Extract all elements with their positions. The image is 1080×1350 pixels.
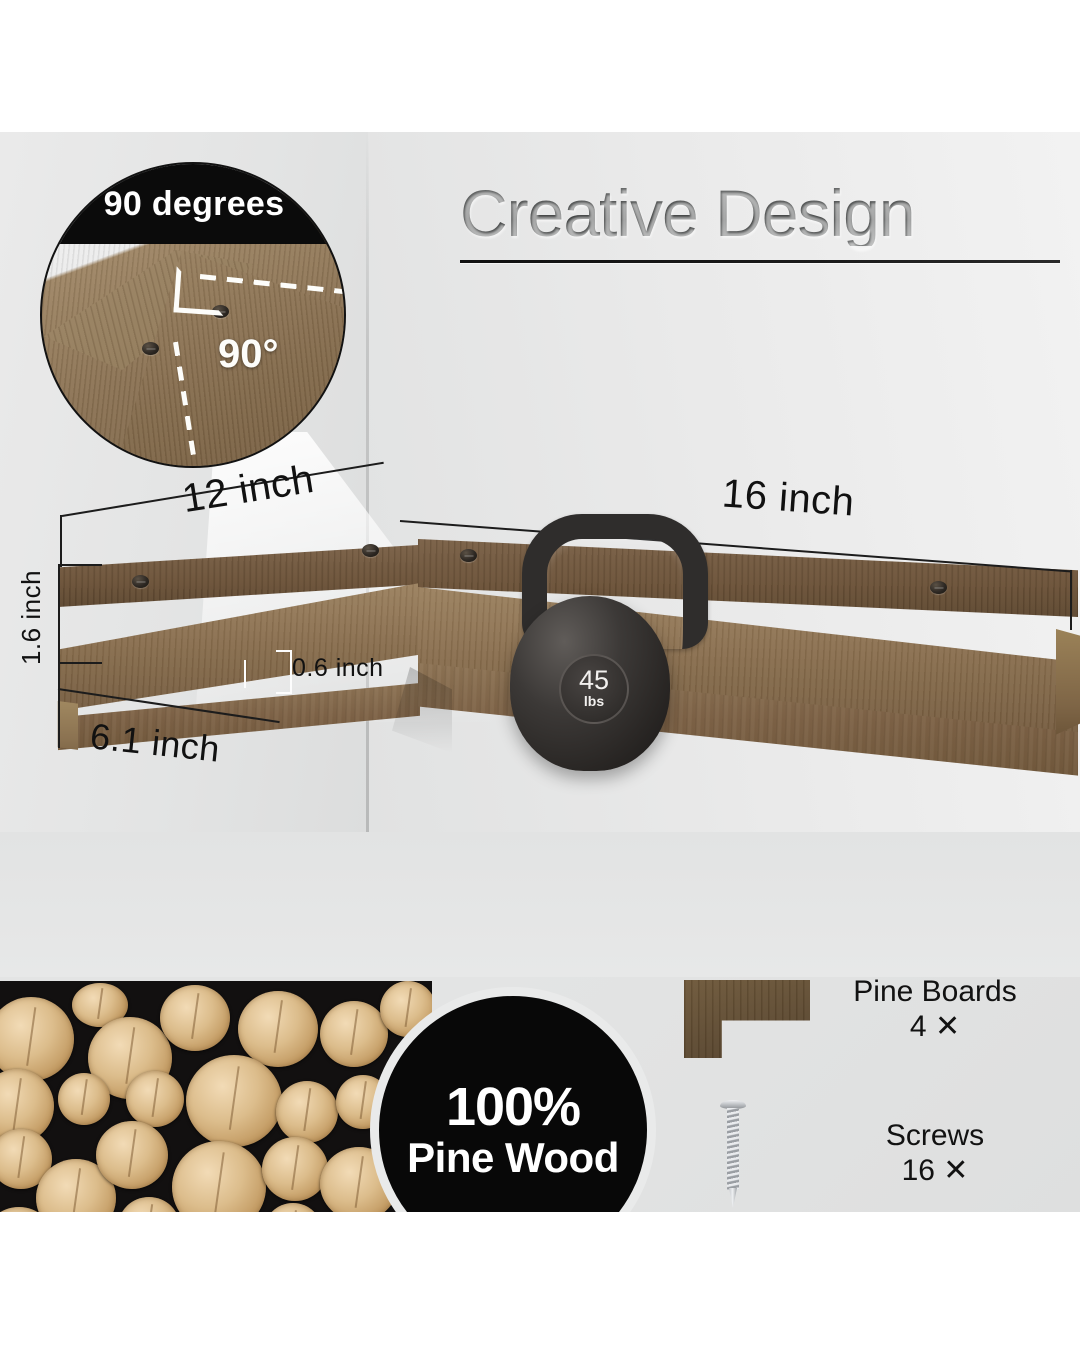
log-round [262,1137,328,1201]
parts-item-qty: 16 ✕ [810,1153,1060,1188]
log-round [186,1055,282,1147]
l-board-icon [680,970,810,1090]
dimension-label-height: 1.6 inch [16,570,47,665]
screw-tip [729,1188,737,1208]
inset-angle-label: 90° [218,332,279,377]
log-round [96,1121,168,1189]
parts-item-name: Pine Boards [810,974,1060,1009]
dimline-thickness-bracket [276,650,292,694]
title-underline [460,260,1060,263]
screw-shape [718,1100,748,1210]
floor-shadow [0,832,1080,977]
screw-icon [680,1094,810,1212]
log-round [276,1081,338,1143]
dimension-label-thickness: 0.6 inch [292,654,384,683]
corner-angle-inset: 90 degrees 90° [40,162,346,468]
parts-list: Pine Boards 4 ✕ Screws 16 ✕ [680,970,1060,1212]
firewood-logs-photo [0,977,432,1212]
dimline-height-top-tick [58,564,102,566]
kettlebell-weight-unit: lbs [584,694,604,709]
kettlebell-body: 45 lbs [510,596,670,771]
inset-banner-label: 90 degrees [104,185,285,224]
shelf-screw [460,549,477,562]
screw-shaft [727,1108,739,1190]
kettlebell-weight-badge: 45 lbs [559,654,629,724]
log-round [126,1071,184,1127]
infographic-canvas: Creative Design [0,0,1080,1350]
shelf-screw [132,575,149,588]
material-badge-percent: 100% [446,1079,580,1136]
log-round [118,1197,180,1212]
content-panel: Creative Design [0,132,1080,1212]
log-round [238,991,318,1067]
dimline-thickness-tick [244,660,246,688]
parts-item-text: Pine Boards 4 ✕ [810,974,1060,1045]
dimline-16inch-tick [1070,570,1072,630]
page-title: Creative Design [460,180,1060,246]
parts-item-name: Screws [810,1118,1060,1153]
inset-banner: 90 degrees [40,164,346,244]
dimline-depth-vert [58,664,60,748]
parts-item-text: Screws 16 ✕ [810,1118,1060,1189]
shelf-screw [930,581,947,594]
parts-list-item: Screws 16 ✕ [680,1094,1060,1212]
dimline-height-vert [58,564,60,664]
shelf-right-end-cap [1056,629,1080,739]
dimline-12inch-tick [60,515,62,567]
page-title-block: Creative Design [460,180,1060,263]
log-round [172,1141,266,1212]
inset-right-angle-marker [173,266,226,315]
inset-screw [142,342,159,355]
log-round [264,1203,322,1212]
parts-list-item: Pine Boards 4 ✕ [680,970,1060,1094]
l-board-shape [684,980,810,1058]
log-round [160,985,230,1051]
dimline-height-bottom-tick [58,662,102,664]
shelf-left-end-cap [52,701,78,767]
material-badge-material: Pine Wood [407,1135,619,1181]
shelf-screw [362,544,379,557]
kettlebell-illustration: 45 lbs [500,514,680,776]
log-round [58,1073,110,1125]
parts-item-qty: 4 ✕ [810,1009,1060,1044]
log-round [320,1001,388,1067]
dimension-label-16inch: 16 inch [721,471,856,525]
kettlebell-weight-value: 45 [579,668,609,694]
